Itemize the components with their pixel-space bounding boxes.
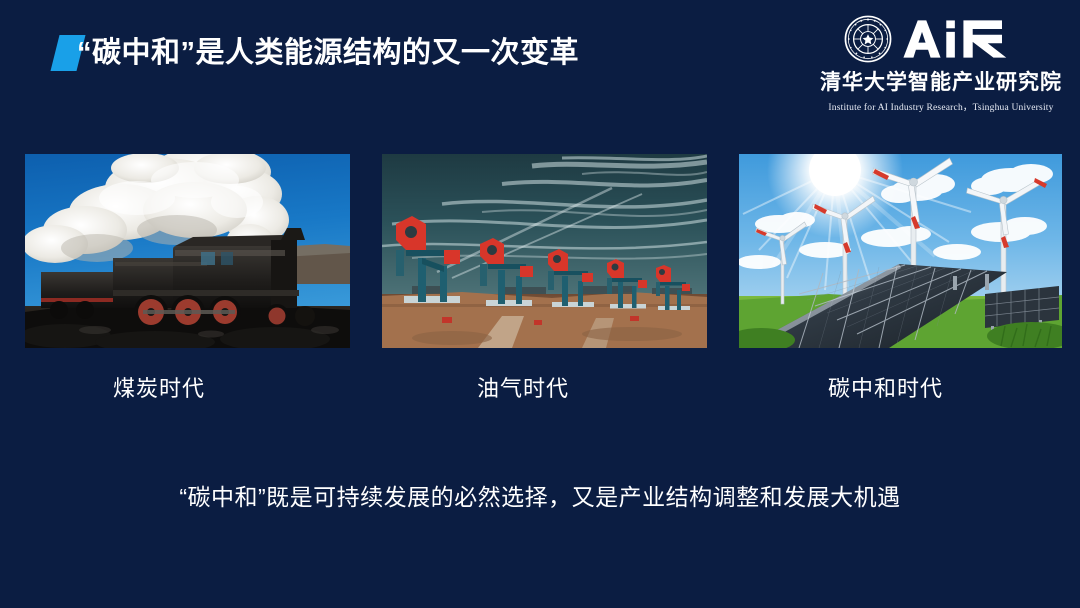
solar-panels-wind-turbines-photo	[739, 154, 1062, 348]
institute-logo: 清华大学智能产业研究院 Institute for AI Industry Re…	[818, 14, 1064, 113]
institute-name-en: Institute for AI Industry Research，Tsing…	[818, 99, 1064, 113]
oil-pumpjacks-photo	[382, 154, 707, 348]
tsinghua-seal-icon	[844, 15, 892, 63]
air-wordmark-icon	[902, 19, 1038, 59]
slide-statement: “碳中和”既是可持续发展的必然选择，又是产业结构调整和发展大机遇	[0, 478, 1080, 512]
steam-locomotive-coal-photo	[25, 154, 350, 348]
caption-oil-era: 油气时代	[477, 371, 569, 403]
logo-top-row	[818, 14, 1064, 64]
presentation-slide: “碳中和”是人类能源结构的又一次变革	[0, 0, 1080, 608]
caption-carbon-era: 碳中和时代	[828, 371, 943, 403]
page-title: “碳中和”是人类能源结构的又一次变革	[77, 39, 579, 68]
slide-title-row: “碳中和”是人类能源结构的又一次变革	[55, 30, 579, 76]
institute-name-cn: 清华大学智能产业研究院	[818, 66, 1064, 96]
caption-coal-era: 煤炭时代	[113, 371, 205, 403]
